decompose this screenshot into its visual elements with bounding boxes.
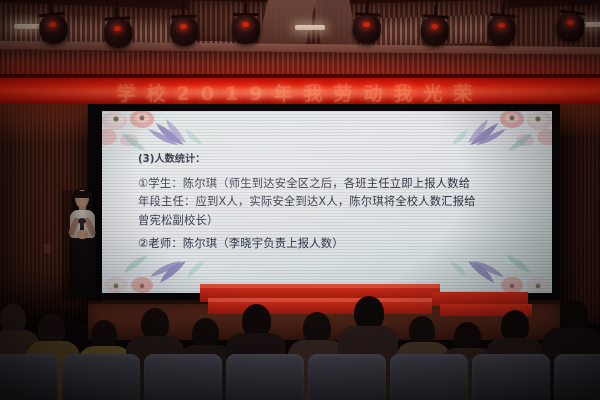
seat (144, 354, 222, 400)
audience (0, 262, 600, 400)
stage-spotlight (102, 7, 134, 51)
slide-line: ②老师：陈尔琪（李晓宇负责上报人数） (138, 235, 542, 254)
ceiling (0, 0, 600, 78)
wall-switch-plate (44, 244, 51, 253)
red-led-banner: 学校2019年我劳动我光荣 (0, 74, 600, 108)
slide-line: ①学生：陈尔琪（师生到达安全区之后，各班主任立即上报人数给 (138, 175, 542, 194)
stage-spotlight (485, 4, 519, 48)
stage-spotlight (351, 3, 383, 47)
seat-row (0, 348, 600, 400)
slide-line: 年段主任：应到X人，实际安全到达X人，陈尔琪将全校人数汇报给 (138, 193, 542, 212)
slide-content: (3)人数统计： ①学生：陈尔琪（师生到达安全区之后，各班主任立即上报人数给 年… (138, 151, 542, 254)
seat (554, 354, 600, 400)
banner-top-edge (0, 74, 600, 78)
stage-spotlight (36, 3, 70, 48)
seat (226, 354, 304, 400)
floral-decoration-icon (408, 111, 552, 155)
banner-glow (0, 88, 600, 98)
stage-spotlight (231, 4, 261, 46)
floral-decoration-icon (102, 111, 246, 155)
stage-spotlight (554, 0, 589, 45)
stage-spotlight (168, 5, 199, 48)
slide-line: 曾宪松副校长） (138, 212, 542, 231)
seat (390, 354, 468, 400)
seat (62, 354, 140, 400)
seat (472, 354, 550, 400)
slide-heading: (3)人数统计： (138, 151, 542, 170)
seat (308, 354, 386, 400)
auditorium-photo: 学校2019年我劳动我光荣 (0, 0, 600, 400)
seat (0, 354, 58, 400)
stage-spotlight (419, 5, 452, 49)
